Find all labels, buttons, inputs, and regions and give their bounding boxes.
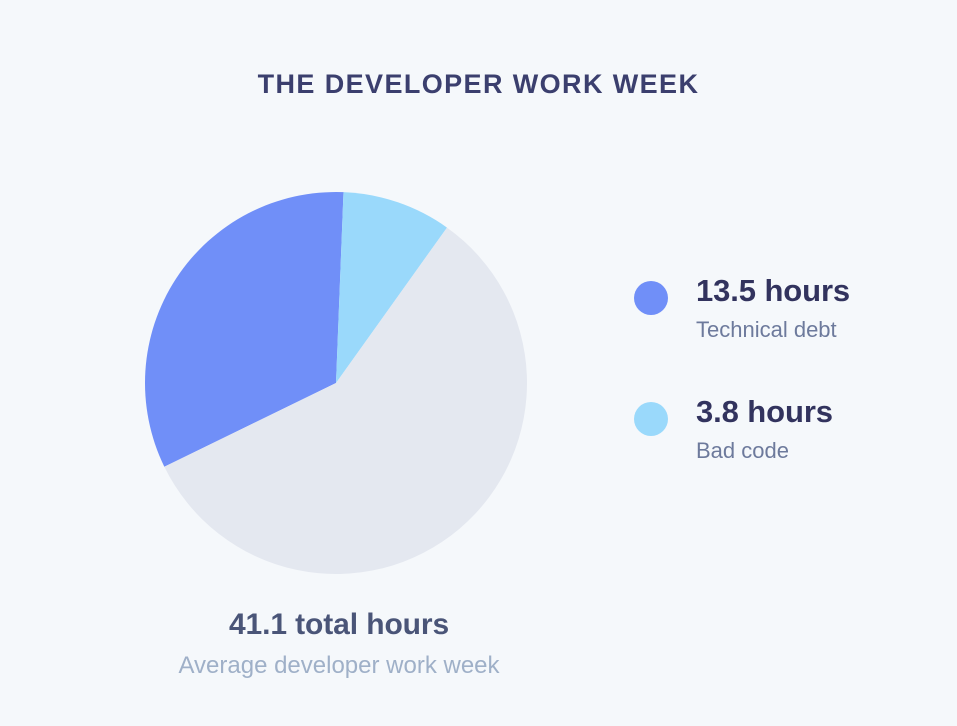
legend-value-bad-code: 3.8 hours <box>696 393 934 432</box>
total-summary: 41.1 total hours Average developer work … <box>0 605 678 684</box>
legend-item-technical-debt[interactable]: 13.5 hours Technical debt <box>634 272 934 346</box>
legend-item-bad-code[interactable]: 3.8 hours Bad code <box>634 393 934 467</box>
legend-label-technical-debt: Technical debt <box>696 313 934 346</box>
legend-dot-bad-code <box>634 402 668 436</box>
chart-legend: 13.5 hours Technical debt 3.8 hours Bad … <box>634 272 934 467</box>
page-title: THE DEVELOPER WORK WEEK <box>0 68 957 100</box>
pie-chart-svg <box>145 192 527 574</box>
total-hours-label: Average developer work week <box>0 649 678 684</box>
legend-label-bad-code: Bad code <box>696 434 934 467</box>
pie-slice-group <box>145 192 527 574</box>
infographic-root: THE DEVELOPER WORK WEEK 13.5 hours Techn… <box>0 0 957 726</box>
total-hours-value: 41.1 total hours <box>0 605 678 644</box>
pie-chart <box>145 192 527 574</box>
legend-dot-technical-debt <box>634 281 668 315</box>
legend-value-technical-debt: 13.5 hours <box>696 272 934 311</box>
